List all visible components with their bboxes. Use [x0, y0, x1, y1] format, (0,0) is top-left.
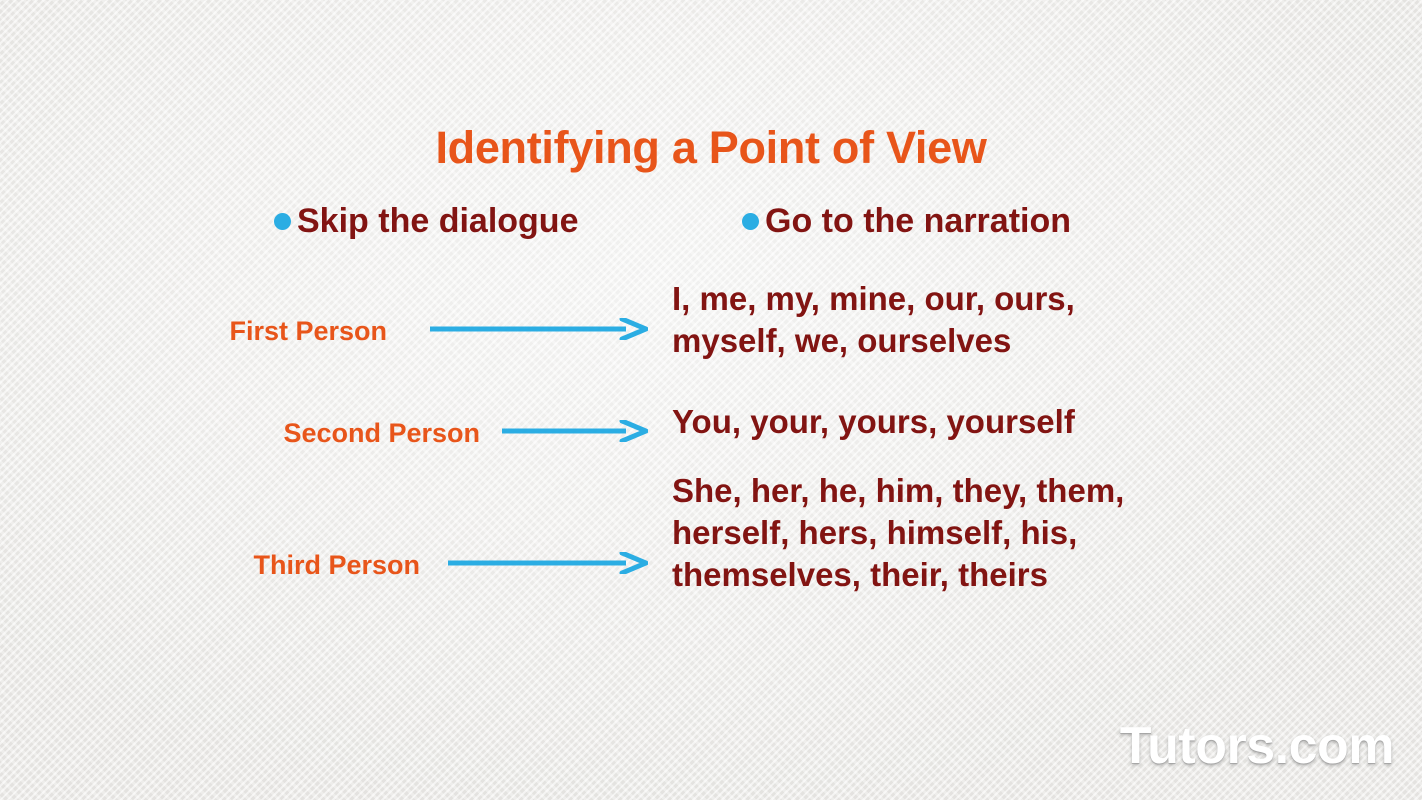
person-row-third: Third Person She, her, he, him, they, th…	[0, 470, 1422, 610]
pronoun-list: I, me, my, mine, our, ours, myself, we, …	[672, 278, 1075, 362]
pronoun-line: You, your, yours, yourself	[672, 401, 1075, 443]
dot-bullet-icon	[274, 213, 291, 230]
person-label: Second Person	[283, 418, 480, 449]
person-row-first: First Person I, me, my, mine, our, ours,…	[0, 278, 1422, 386]
tip-item-skip-dialogue: Skip the dialogue	[274, 204, 578, 238]
arrow-right-icon	[502, 420, 648, 442]
watermark-logo: Tutors.com	[1120, 716, 1394, 776]
pronoun-list: You, your, yours, yourself	[672, 401, 1075, 443]
tip-item-go-to-narration: Go to the narration	[742, 204, 1071, 238]
person-label: Third Person	[253, 550, 420, 581]
pronoun-list: She, her, he, him, they, them, herself, …	[672, 470, 1124, 597]
tips-row: Skip the dialogue Go to the narration	[0, 204, 1422, 250]
pronoun-line: She, her, he, him, they, them,	[672, 470, 1124, 512]
pronoun-line: myself, we, ourselves	[672, 320, 1075, 362]
pronoun-line: themselves, their, theirs	[672, 554, 1124, 596]
page-title: Identifying a Point of View	[0, 122, 1422, 174]
person-label: First Person	[229, 316, 387, 347]
arrow-right-icon	[448, 552, 648, 574]
arrow-right-icon	[430, 318, 648, 340]
tip-label: Skip the dialogue	[297, 204, 578, 238]
dot-bullet-icon	[742, 213, 759, 230]
pronoun-line: herself, hers, himself, his,	[672, 512, 1124, 554]
slide-canvas: Identifying a Point of View Skip the dia…	[0, 0, 1422, 800]
tip-label: Go to the narration	[765, 204, 1071, 238]
pronoun-line: I, me, my, mine, our, ours,	[672, 278, 1075, 320]
person-row-second: Second Person You, your, yours, yourself	[0, 390, 1422, 468]
